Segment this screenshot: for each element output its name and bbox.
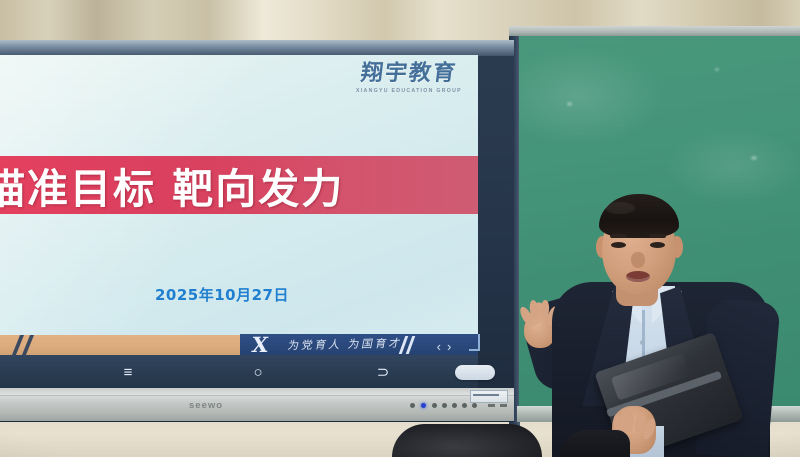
student-head-foreground [392, 424, 542, 457]
bezel-sticker [470, 390, 508, 403]
logo-english-text: XIANGYU EDUCATION GROUP [349, 88, 469, 94]
teacher-eye-left [611, 242, 626, 248]
back-icon[interactable]: ⊃ [370, 359, 396, 385]
slide-logo: 翔宇教育 XIANGYU EDUCATION GROUP [349, 61, 469, 94]
android-navbar [0, 355, 478, 388]
slide-nav-arrows[interactable]: ‹ › [423, 338, 471, 355]
teacher-nose [631, 252, 645, 268]
floating-tool-pill[interactable] [455, 365, 495, 380]
slide-next-arrow-icon[interactable]: › [447, 339, 457, 354]
slide-title: 瞄准目标 靶向发力 [0, 158, 454, 212]
classroom-photo: 翔宇教育 XIANGYU EDUCATION GROUP 瞄准目标 靶向发力 2… [0, 0, 800, 457]
bezel-highlight-line [0, 394, 514, 396]
footer-calligraphy: 为党育人 为国育才 [286, 335, 400, 356]
logo-chinese-text: 翔宇教育 [348, 61, 471, 85]
footer-slash-group [400, 334, 420, 356]
slide-date: 2025年10月27日 [155, 284, 289, 305]
teacher-hair [599, 194, 679, 238]
slide-corner-mark-icon [469, 334, 480, 351]
footer-x-mark: X [245, 334, 274, 356]
smartboard-top-bezel [0, 40, 514, 56]
brand-label: seewo [189, 400, 223, 411]
home-icon[interactable]: ○ [245, 359, 271, 385]
teacher-eye-right [650, 242, 665, 248]
slide-prev-arrow-icon[interactable]: ‹ [437, 339, 447, 354]
teacher-figure [520, 190, 800, 457]
menu-icon[interactable]: ≡ [115, 359, 141, 385]
teacher-mouth [626, 271, 650, 282]
student-shoulder-foreground [560, 430, 630, 457]
